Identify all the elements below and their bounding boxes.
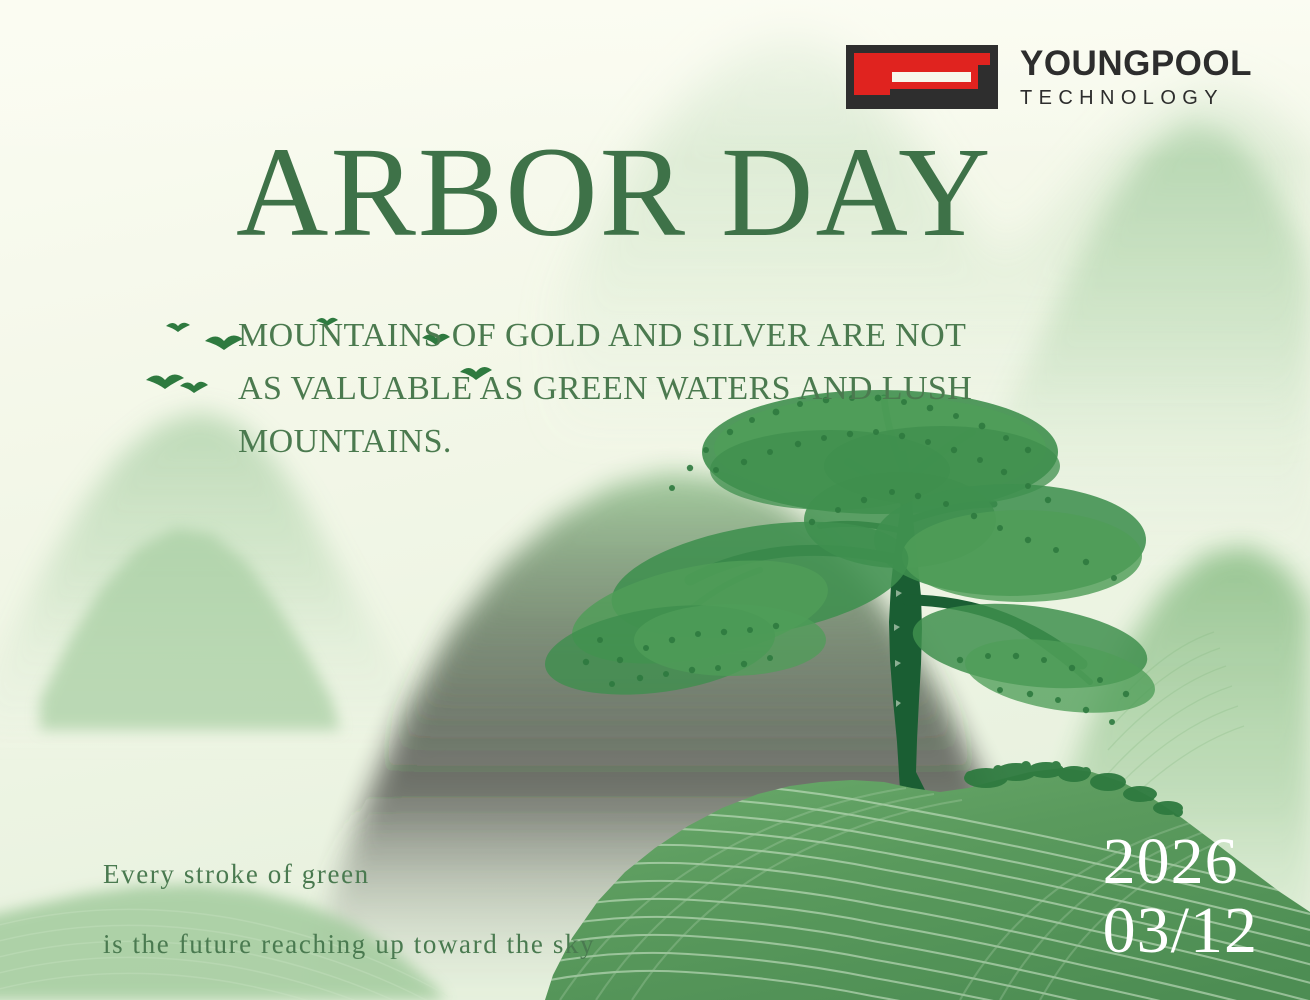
date-monthday: 03/12 — [1103, 899, 1258, 962]
subtitle-line-1: MOUNTAINS OF GOLD AND SILVER ARE NOT — [238, 309, 1058, 362]
tagline-line-1: Every stroke of green — [103, 860, 595, 888]
brand-name: YOUNGPOOL — [1020, 46, 1252, 81]
event-date: 2026 03/12 — [1103, 830, 1258, 962]
subtitle-line-2: AS VALUABLE AS GREEN WATERS AND LUSH — [238, 362, 1058, 415]
tagline-line-2: is the future reaching up toward the sky — [103, 930, 595, 958]
page-title: ARBOR DAY — [236, 128, 993, 256]
poster-subtitle: MOUNTAINS OF GOLD AND SILVER ARE NOT AS … — [238, 309, 1058, 468]
date-year: 2026 — [1103, 830, 1258, 893]
subtitle-line-3: MOUNTAINS. — [238, 415, 1058, 468]
brand-wordmark: YOUNGPOOL TECHNOLOGY — [1020, 46, 1252, 108]
poster-tagline: Every stroke of green is the future reac… — [103, 860, 595, 958]
youngpool-logo-mark-icon — [846, 45, 998, 109]
brand-logo[interactable]: YOUNGPOOL TECHNOLOGY — [846, 45, 1252, 109]
arbor-day-poster: YOUNGPOOL TECHNOLOGY ARBOR DAY MOUNTAINS… — [0, 0, 1310, 1000]
brand-subtitle: TECHNOLOGY — [1020, 88, 1252, 108]
